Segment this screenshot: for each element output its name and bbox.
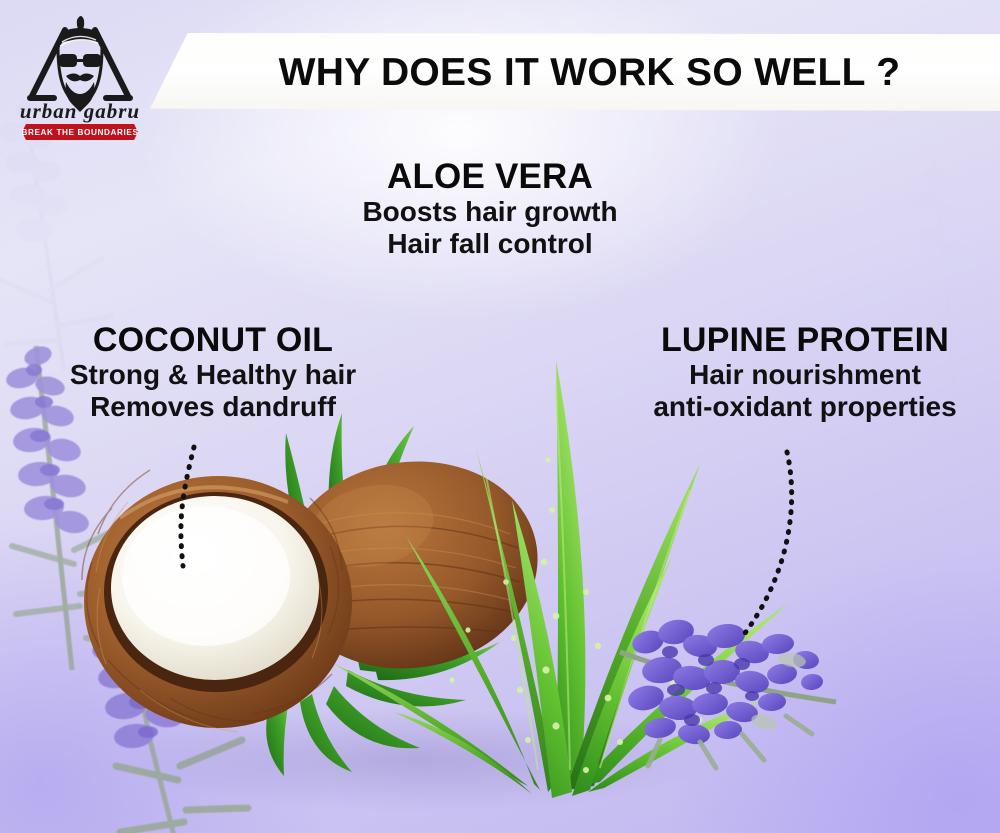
page-title: WHY DOES IT WORK SO WELL ?	[279, 51, 901, 95]
svg-text:urban gabru: urban gabru	[20, 99, 140, 123]
ingredient-benefits-poster: urban gabru BREAK THE BOUNDARIES WHY DOE…	[0, 0, 1000, 833]
ingredient-heading: ALOE VERA	[300, 158, 680, 196]
product-imagery	[0, 330, 1000, 833]
title-banner: WHY DOES IT WORK SO WELL ?	[150, 33, 1000, 111]
svg-text:BREAK THE BOUNDARIES: BREAK THE BOUNDARIES	[21, 128, 138, 137]
brand-logo[interactable]: urban gabru BREAK THE BOUNDARIES	[10, 8, 150, 143]
urban-gabru-logo-icon: urban gabru BREAK THE BOUNDARIES	[10, 8, 150, 143]
ingredient-block-aloe-vera: ALOE VERA Boosts hair growth Hair fall c…	[300, 158, 680, 261]
ingredient-benefit: Boosts hair growth	[300, 196, 680, 228]
ingredient-benefit: Hair fall control	[300, 228, 680, 260]
